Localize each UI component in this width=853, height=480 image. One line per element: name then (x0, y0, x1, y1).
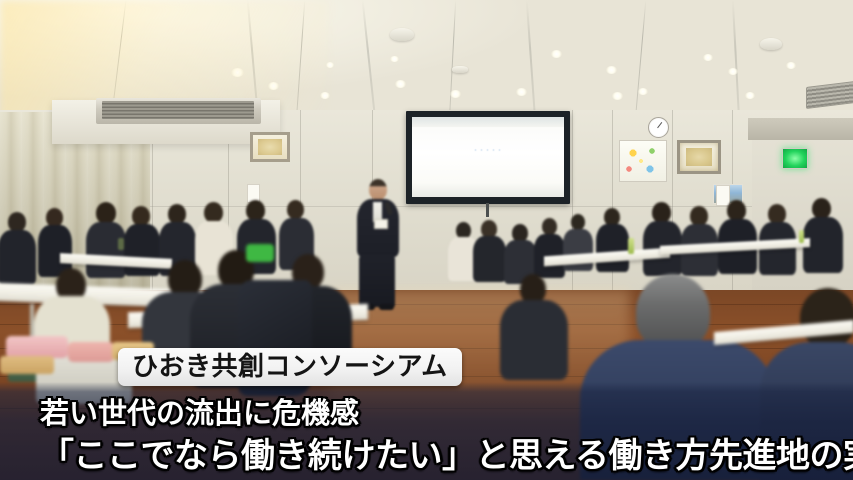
subtitle-line-1: 若い世代の流出に危機感 (40, 390, 359, 432)
projection-screen-top-band (412, 117, 564, 127)
downlight (551, 50, 562, 58)
downlight (638, 88, 648, 95)
table-item (6, 336, 68, 358)
broadcast-frame: ・・・・・ (0, 0, 853, 480)
wall-clock-icon (648, 117, 669, 138)
emergency-exit-sign-icon (782, 148, 808, 169)
subtitle-line-2: 「ここでなら働き続けたい」と思える働き方先進地の実現目指す (40, 428, 853, 477)
slide-text: ・・・・・ (412, 147, 564, 154)
wall-poster (619, 140, 667, 182)
program-topic-label: ひおき共創コンソーシアム (132, 354, 448, 380)
table-item (68, 342, 114, 362)
alcove-header (748, 118, 853, 140)
downlight (703, 54, 713, 61)
downlight (450, 90, 461, 98)
ceiling-speaker (760, 38, 782, 50)
downlight (516, 88, 527, 96)
ceiling-speaker (390, 28, 414, 41)
downlight (728, 68, 738, 75)
downlight (745, 92, 755, 99)
green-garment (246, 244, 274, 262)
program-topic-chip: ひおき共創コンソーシアム (118, 348, 462, 386)
air-conditioner-grill-icon (102, 101, 254, 119)
downlight (786, 62, 796, 69)
name-badge (374, 219, 388, 229)
framed-artwork-left (250, 132, 290, 162)
downlight (612, 92, 623, 100)
downlight (606, 66, 617, 74)
downlight (390, 56, 399, 62)
framed-artwork-right (677, 140, 721, 174)
downlight (395, 80, 406, 88)
ceiling-fixture (452, 66, 468, 73)
table-item (0, 356, 54, 374)
